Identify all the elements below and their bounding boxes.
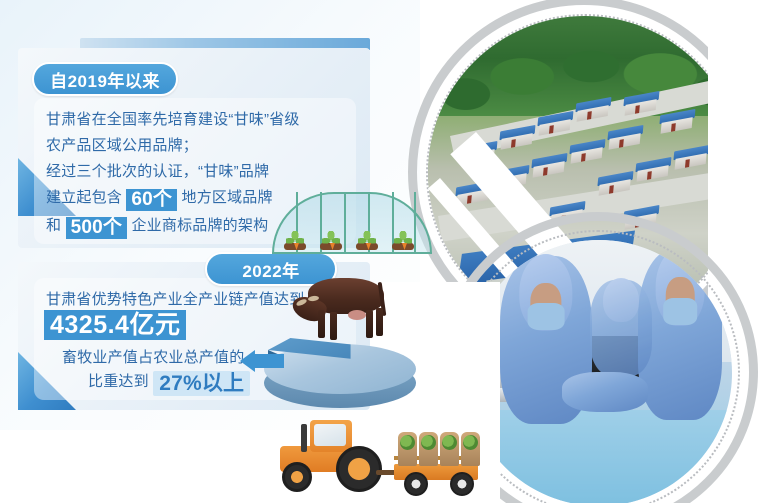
livestock-share-value-line: 比重达到 27%以上 <box>88 370 250 396</box>
factory-worker <box>590 280 652 376</box>
livestock-share-line: 畜牧业产值占农业总产值的 <box>62 346 244 367</box>
cow-leg <box>366 310 373 338</box>
trademark-count-highlight: 500个 <box>66 217 128 239</box>
share-value-highlight: 27%以上 <box>153 371 250 396</box>
badge-since-2019: 自2019年以来 <box>32 62 178 96</box>
greenhouse-rib <box>344 192 346 254</box>
brand-count-highlight: 60个 <box>126 189 177 211</box>
brand-suffix: 地方区域品牌 <box>182 189 273 206</box>
cow-leg <box>318 310 325 338</box>
greenhouse-plant <box>322 231 340 245</box>
since-line-trademark: 和 500个 企业商标品牌的架构 <box>46 214 268 239</box>
tractor-window <box>314 424 346 446</box>
factory-work-surface <box>466 410 732 503</box>
greenhouse-icon <box>272 192 432 254</box>
tractor-exhaust-pipe <box>301 424 307 452</box>
trailer-wheel <box>404 472 428 496</box>
infographic-root: 自2019年以来 甘肃省在全国率先培育建设“甘味”省级 农产品区域公用品牌； 经… <box>0 0 768 503</box>
tractor-rear-wheel <box>336 446 382 492</box>
greenhouse-plant <box>286 231 304 245</box>
cow-icon <box>292 272 404 344</box>
produce-sack <box>440 432 459 466</box>
chain-value-label: 甘肃省优势特色产业全产业链产值达到 <box>46 288 304 309</box>
since-line-1: 甘肃省在全国率先培育建设“甘味”省级 <box>46 108 300 129</box>
trailer-wheel <box>450 472 474 496</box>
since-line-2: 农产品区域公用品牌； <box>46 134 198 155</box>
greenhouse-plant <box>358 231 376 245</box>
cow-leg <box>376 308 383 336</box>
greenhouse-plant <box>394 231 412 245</box>
tractor-front-wheel <box>282 462 312 492</box>
pie-chart-icon <box>258 336 426 420</box>
trademark-suffix: 企业商标品牌的架构 <box>131 217 268 234</box>
produce-sack <box>461 432 480 466</box>
factory-worker-hand <box>562 372 648 412</box>
produce-sack <box>398 432 417 466</box>
badge-since-2019-label: 自2019年以来 <box>50 67 160 92</box>
since-line-brand: 建立起包含 60个 地方区域品牌 <box>46 186 273 211</box>
greenhouse-rib <box>414 192 416 254</box>
trademark-prefix: 和 <box>46 217 61 234</box>
produce-sack <box>419 432 438 466</box>
cow-udder <box>348 310 366 320</box>
share-prefix: 比重达到 <box>88 373 149 390</box>
food-processing-workers-photo <box>466 240 732 503</box>
brand-prefix: 建立起包含 <box>46 189 122 206</box>
chain-value-highlight: 4325.4亿元 <box>44 310 186 340</box>
since-line-3: 经过三个批次的认证，“甘味”品牌 <box>46 160 269 181</box>
tractor-icon <box>268 410 480 496</box>
